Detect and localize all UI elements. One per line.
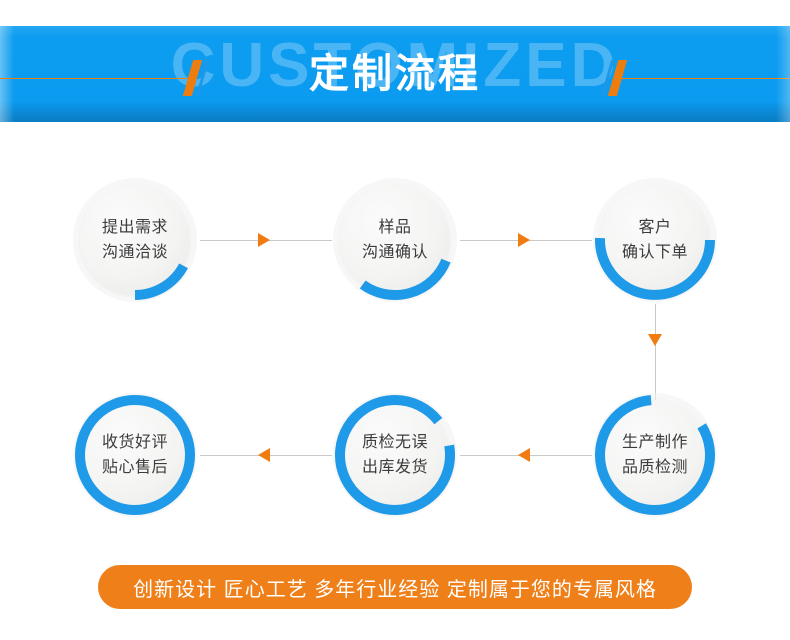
flow-step-3[interactable]: 客户 确认下单	[591, 176, 719, 304]
arrow-step2-step3	[518, 233, 530, 247]
flow-step-1-line2: 沟通洽谈	[102, 240, 168, 265]
flow-step-3-label: 客户 确认下单	[591, 176, 719, 304]
flow-step-4-line2: 品质检测	[622, 455, 688, 480]
flow-step-5-line2: 出库发货	[362, 455, 428, 480]
arrow-step4-step5	[518, 448, 530, 462]
flow-step-3-line1: 客户	[638, 215, 671, 240]
page-title: 定制流程	[0, 48, 790, 100]
flow-step-4-label: 生产制作 品质检测	[591, 391, 719, 519]
flow-step-6-line1: 收货好评	[102, 430, 168, 455]
arrow-step1-step2	[258, 233, 270, 247]
flow-step-2[interactable]: 样品 沟通确认	[331, 176, 459, 304]
flow-step-6[interactable]: 收货好评 贴心售后	[71, 391, 199, 519]
flow-step-1[interactable]: 提出需求 沟通洽谈	[71, 176, 199, 304]
flow-step-6-line2: 贴心售后	[102, 455, 168, 480]
flow-step-5-line1: 质检无误	[362, 430, 428, 455]
flow-step-4[interactable]: 生产制作 品质检测	[591, 391, 719, 519]
flow-step-1-line1: 提出需求	[102, 215, 168, 240]
flow-step-1-label: 提出需求 沟通洽谈	[71, 176, 199, 304]
flow-step-4-line1: 生产制作	[622, 430, 688, 455]
flow-step-2-label: 样品 沟通确认	[331, 176, 459, 304]
arrow-step3-step4	[648, 334, 662, 346]
flow-step-3-line2: 确认下单	[622, 240, 688, 265]
header-banner: CUSTOMIZED 定制流程	[0, 26, 790, 122]
flow-step-2-line2: 沟通确认	[362, 240, 428, 265]
flow-step-5-label: 质检无误 出库发货	[331, 391, 459, 519]
flow-step-5[interactable]: 质检无误 出库发货	[331, 391, 459, 519]
process-flow-diagram: 提出需求 沟通洽谈 样品 沟通确认 客户 确认下单 生产制作 品质检测	[0, 122, 790, 552]
footer-slogan-banner: 创新设计 匠心工艺 多年行业经验 定制属于您的专属风格	[98, 565, 692, 609]
arrow-step5-step6	[258, 448, 270, 462]
flow-step-2-line1: 样品	[378, 215, 411, 240]
flow-step-6-label: 收货好评 贴心售后	[71, 391, 199, 519]
footer-slogan-text: 创新设计 匠心工艺 多年行业经验 定制属于您的专属风格	[133, 573, 657, 602]
